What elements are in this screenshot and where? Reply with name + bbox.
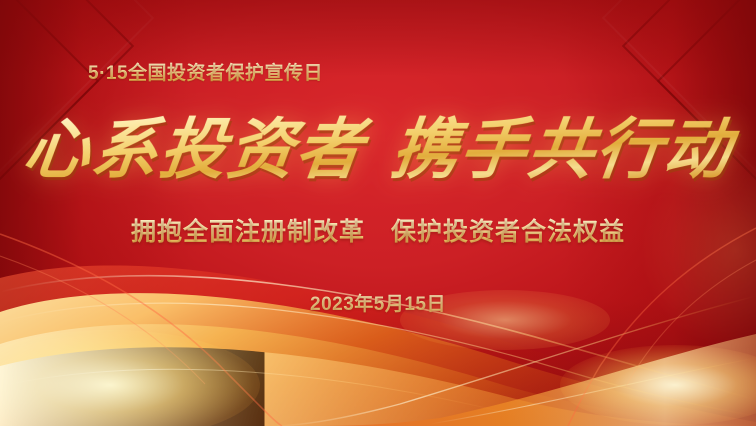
main-headline: 心系投资者携手共行动 [0,108,756,190]
headline-phrase-left: 心系投资者 [19,110,369,188]
subtitle-phrase-right: 保护投资者合法权益 [391,218,625,246]
event-date-text: 2023年5月15日 [0,292,756,318]
subtitle-phrase-left: 拥抱全面注册制改革 [131,218,365,246]
headline-phrase-right: 携手共行动 [387,110,737,188]
subtitle-line: 拥抱全面注册制改革保护投资者合法权益 [0,215,756,249]
event-kicker-text: 5·15全国投资者保护宣传日 [88,62,323,86]
investor-protection-day-poster: 5·15全国投资者保护宣传日 心系投资者携手共行动 拥抱全面注册制改革保护投资者… [0,0,756,426]
poster-text-layer: 5·15全国投资者保护宣传日 心系投资者携手共行动 拥抱全面注册制改革保护投资者… [0,0,756,426]
